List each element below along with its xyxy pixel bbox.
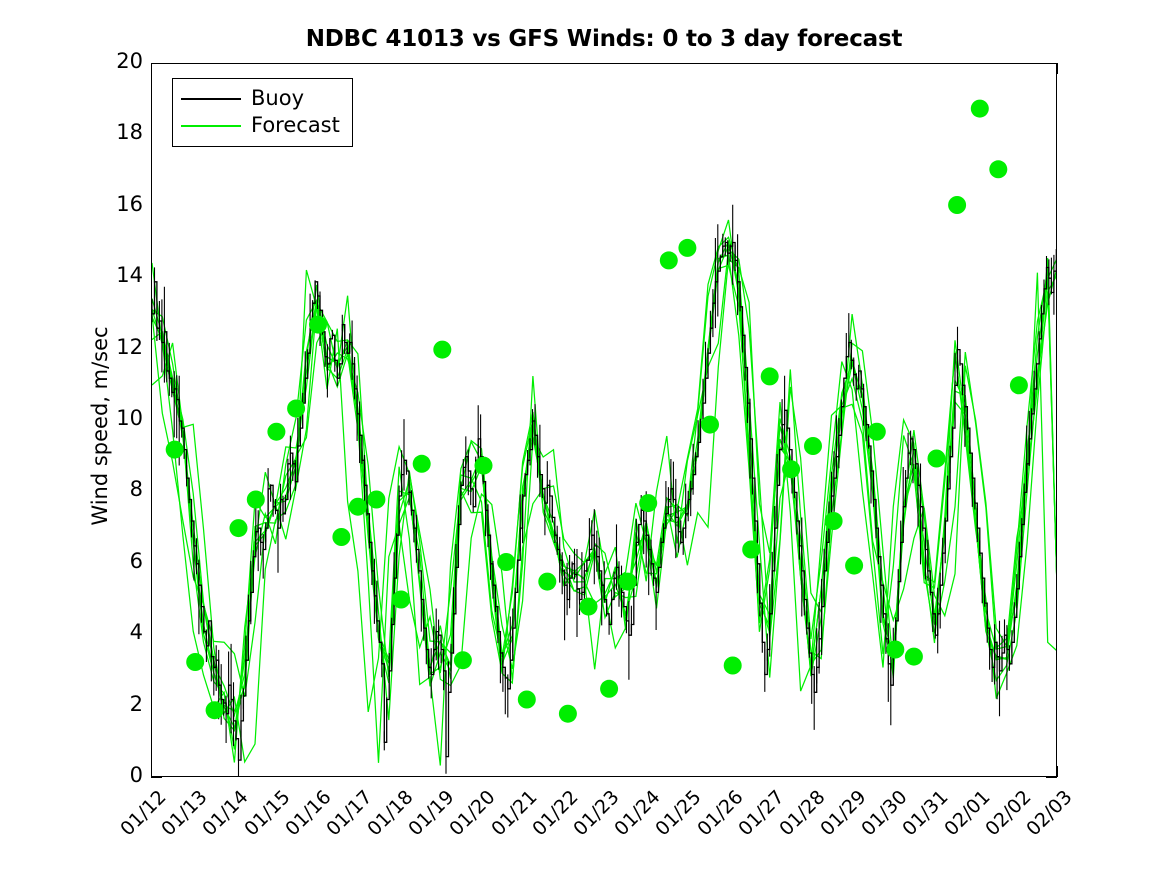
data-point-marker — [247, 491, 265, 509]
data-point-marker — [367, 491, 385, 509]
data-point-marker — [845, 557, 863, 575]
y-tick-label: 18 — [83, 120, 143, 144]
data-point-marker — [166, 441, 184, 459]
data-point-marker — [868, 423, 886, 441]
y-tick-label: 14 — [83, 263, 143, 287]
data-point-marker — [392, 591, 410, 609]
data-point-marker — [701, 416, 719, 434]
data-point-marker — [475, 457, 493, 475]
data-point-marker — [433, 341, 451, 359]
data-point-marker — [332, 528, 350, 546]
data-point-marker — [678, 239, 696, 257]
data-point-marker — [782, 460, 800, 478]
y-tick-mark-right — [1046, 777, 1057, 778]
data-point-marker — [989, 160, 1007, 178]
forecast-markers — [166, 100, 1028, 723]
data-point-marker — [600, 680, 618, 698]
data-point-marker — [724, 657, 742, 675]
legend-item-forecast: Forecast — [181, 112, 340, 139]
plot-area — [151, 63, 1057, 777]
data-point-marker — [905, 648, 923, 666]
data-point-marker — [186, 653, 204, 671]
page-title: NDBC 41013 vs GFS Winds: 0 to 3 day fore… — [151, 26, 1057, 52]
y-tick-label: 6 — [83, 549, 143, 573]
y-tick-label: 16 — [83, 192, 143, 216]
data-point-marker — [886, 641, 904, 659]
data-point-marker — [287, 400, 305, 418]
legend-label-forecast: Forecast — [251, 115, 340, 136]
data-point-marker — [825, 512, 843, 530]
data-point-marker — [518, 691, 536, 709]
data-point-marker — [619, 573, 637, 591]
data-point-marker — [206, 701, 224, 719]
data-point-marker — [804, 437, 822, 455]
data-point-marker — [497, 553, 515, 571]
data-point-marker — [413, 455, 431, 473]
y-tick-label: 10 — [83, 406, 143, 430]
legend-label-buoy: Buoy — [251, 88, 304, 109]
y-tick-label: 20 — [83, 49, 143, 73]
data-point-marker — [580, 598, 598, 616]
y-tick-label: 0 — [83, 763, 143, 787]
data-point-marker — [309, 316, 327, 334]
plot-svg — [152, 64, 1057, 777]
data-point-marker — [538, 573, 556, 591]
y-tick-label: 12 — [83, 335, 143, 359]
data-point-marker — [660, 251, 678, 269]
y-tick-mark — [151, 777, 162, 778]
chart-figure: NDBC 41013 vs GFS Winds: 0 to 3 day fore… — [0, 0, 1167, 875]
data-point-marker — [742, 541, 760, 559]
data-point-marker — [761, 367, 779, 385]
data-point-marker — [928, 450, 946, 468]
data-point-marker — [971, 100, 989, 118]
data-point-marker — [639, 494, 657, 512]
data-point-marker — [267, 423, 285, 441]
legend-item-buoy: Buoy — [181, 85, 340, 112]
x-tick-mark — [1057, 766, 1058, 777]
data-point-marker — [349, 498, 367, 516]
legend: Buoy Forecast — [172, 78, 353, 147]
data-point-marker — [1010, 376, 1028, 394]
legend-swatch-buoy — [181, 98, 241, 100]
y-tick-label: 4 — [83, 620, 143, 644]
data-point-marker — [454, 651, 472, 669]
y-tick-label: 2 — [83, 692, 143, 716]
data-point-marker — [948, 196, 966, 214]
legend-swatch-forecast — [181, 125, 241, 127]
data-point-marker — [559, 705, 577, 723]
y-tick-label: 8 — [83, 477, 143, 501]
data-point-marker — [230, 519, 248, 537]
x-tick-mark-top — [1057, 63, 1058, 74]
